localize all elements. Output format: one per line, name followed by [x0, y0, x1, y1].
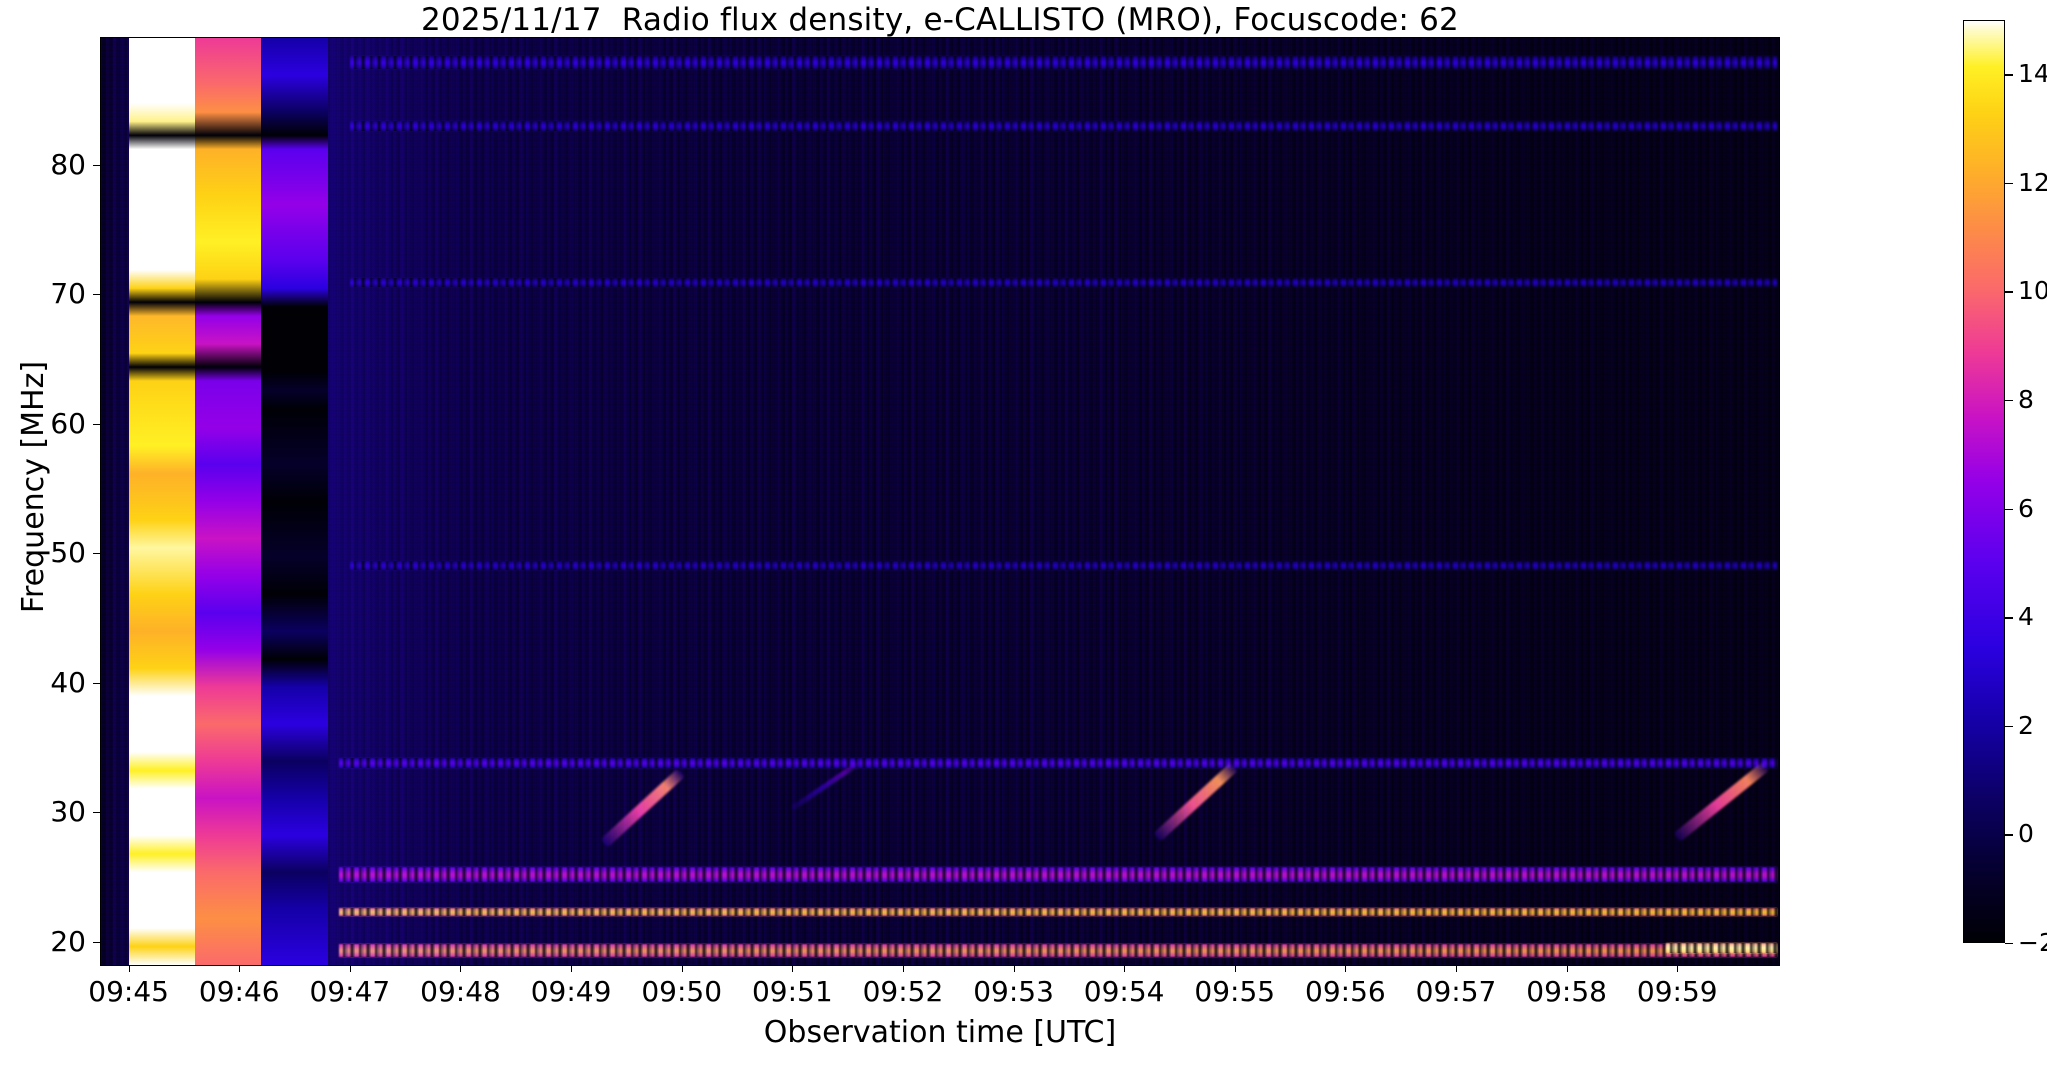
- x-tick-mark: [571, 965, 572, 972]
- colorbar-tick-mark: [2005, 183, 2013, 184]
- colorbar-tick-label: 10: [2018, 277, 2047, 305]
- colorbar-tick-label: 4: [2018, 603, 2034, 631]
- type-III-burst-2: [1154, 762, 1239, 841]
- x-tick-label-0951: 09:51: [752, 976, 833, 1008]
- y-tick-mark: [93, 553, 101, 554]
- colorbar-tick-label: 6: [2018, 495, 2034, 523]
- x-tick-label-0947: 09:47: [310, 976, 391, 1008]
- y-tick-mark: [93, 683, 101, 684]
- x-tick-mark: [1567, 965, 1568, 972]
- colorbar-tick-mark: [2005, 291, 2013, 292]
- x-tick-label-0959: 09:59: [1637, 976, 1718, 1008]
- x-tick-label-0952: 09:52: [863, 976, 944, 1008]
- colorbar-tick-label: −2: [2018, 929, 2047, 957]
- y-tick-label-80: 80: [26, 149, 86, 181]
- type-III-burst-3: [1674, 762, 1769, 842]
- x-tick-mark: [350, 965, 351, 972]
- x-tick-mark: [1456, 965, 1457, 972]
- x-tick-label-0953: 09:53: [973, 976, 1054, 1008]
- x-tick-mark: [1677, 965, 1678, 972]
- colorbar-tick-label: 12: [2018, 169, 2047, 197]
- x-tick-mark: [1235, 965, 1236, 972]
- rfi-line-88MHz-modulation: [350, 56, 1777, 69]
- rfi-line-71MHz-modulation: [350, 278, 1777, 287]
- x-tick-mark: [129, 965, 130, 972]
- type-III-burst-1: [601, 768, 686, 847]
- colorbar-tick-label: 0: [2018, 820, 2034, 848]
- x-tick-mark: [792, 965, 793, 972]
- x-tick-label-0955: 09:55: [1194, 976, 1275, 1008]
- x-tick-mark: [460, 965, 461, 972]
- x-tick-label-0950: 09:50: [641, 976, 722, 1008]
- x-tick-mark: [239, 965, 240, 972]
- x-tick-label-0948: 09:48: [420, 976, 501, 1008]
- x-tick-mark: [1124, 965, 1125, 972]
- x-tick-label-0946: 09:46: [199, 976, 280, 1008]
- y-tick-mark: [93, 165, 101, 166]
- x-tick-label-0956: 09:56: [1305, 976, 1386, 1008]
- rfi-line-19MHz-modulation: [339, 944, 1777, 957]
- x-tick-label-0949: 09:49: [531, 976, 612, 1008]
- faint-drift-1: [791, 761, 860, 810]
- y-tick-mark: [93, 942, 101, 943]
- colorbar-tick-mark: [2005, 400, 2013, 401]
- x-tick-mark: [903, 965, 904, 972]
- figure-canvas: 2025/11/17 Radio flux density, e-CALLIST…: [0, 0, 2047, 1067]
- x-tick-mark: [1345, 965, 1346, 972]
- y-tick-label-30: 30: [26, 796, 86, 828]
- x-tick-mark: [1014, 965, 1015, 972]
- colorbar-tick-mark: [2005, 834, 2013, 835]
- y-tick-mark: [93, 424, 101, 425]
- spectrogram-axes[interactable]: [101, 38, 1779, 965]
- x-axis-label: Observation time [UTC]: [101, 1016, 1779, 1050]
- y-tick-mark: [93, 294, 101, 295]
- x-tick-label-0957: 09:57: [1416, 976, 1497, 1008]
- rfi-line-22MHz-modulation: [339, 908, 1777, 916]
- x-tick-label-0958: 09:58: [1526, 976, 1607, 1008]
- x-tick-mark: [682, 965, 683, 972]
- rfi-line-34MHz-modulation: [339, 758, 1777, 768]
- rfi-line-49MHz-modulation: [350, 561, 1777, 570]
- y-tick-mark: [93, 812, 101, 813]
- x-tick-label-0954: 09:54: [1084, 976, 1165, 1008]
- colorbar-tick-mark: [2005, 943, 2013, 944]
- saturated-calibration-band-1: [129, 38, 195, 965]
- bright-patch-19MHz-modulation: [1666, 943, 1777, 953]
- colorbar-tick-mark: [2005, 726, 2013, 727]
- x-tick-label-0945: 09:45: [88, 976, 169, 1008]
- colorbar-tick-mark: [2005, 74, 2013, 75]
- colorbar-tick-mark: [2005, 509, 2013, 510]
- spectrogram-features: [101, 38, 1779, 965]
- y-axis-label: Frequency [MHz]: [17, 277, 51, 697]
- colorbar-tick-label: 8: [2018, 386, 2034, 414]
- rfi-line-83MHz-modulation: [350, 121, 1777, 131]
- dark-blank-band: [261, 38, 327, 965]
- rfi-line-25MHz-modulation: [339, 867, 1777, 883]
- colorbar-tick-label: 2: [2018, 712, 2034, 740]
- colorbar[interactable]: [1963, 20, 2005, 943]
- saturated-calibration-band-2: [195, 38, 261, 965]
- colorbar-tick-label: 14: [2018, 60, 2047, 88]
- colorbar-tick-mark: [2005, 617, 2013, 618]
- y-tick-label-20: 20: [26, 926, 86, 958]
- page-title: 2025/11/17 Radio flux density, e-CALLIST…: [0, 2, 1880, 38]
